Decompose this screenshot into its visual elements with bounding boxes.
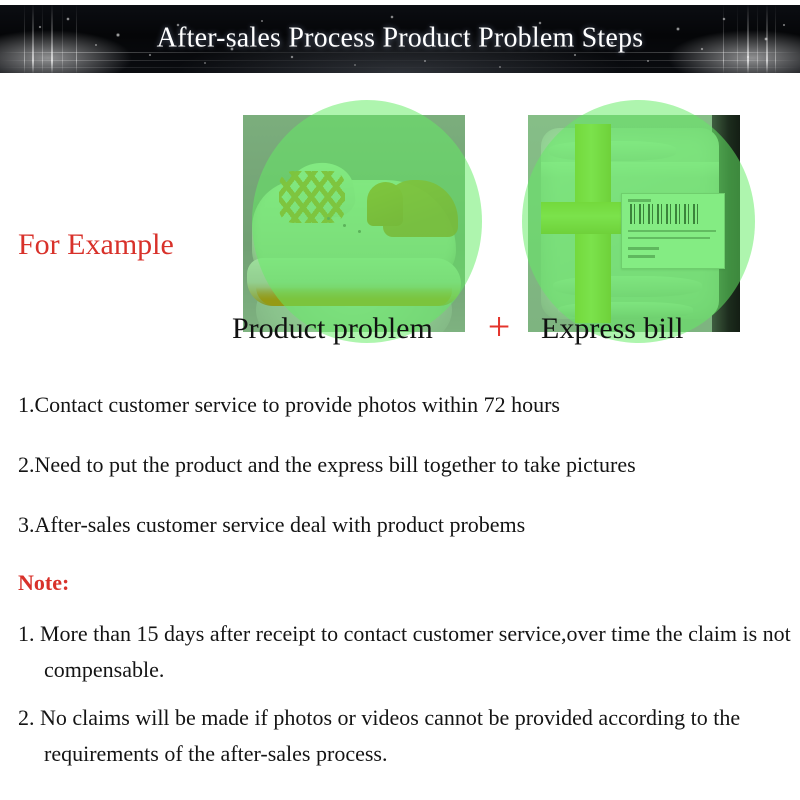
banner-horizontal-light-line [0,67,800,68]
page-title: After-sales Process Product Problem Step… [0,22,800,54]
note-heading: Note: [18,570,69,596]
note-item: 1. More than 15 days after receipt to co… [18,616,793,688]
note-list: 1. More than 15 days after receipt to co… [18,616,793,784]
green-photo-tint [528,115,740,332]
header-banner: After-sales Process Product Problem Step… [0,5,800,73]
steps-list: 1.Contact customer service to provide ph… [18,392,788,572]
green-photo-tint [243,115,465,332]
for-example-label: For Example [18,228,174,262]
step-item: 1.Contact customer service to provide ph… [18,392,788,418]
express-photo-frame [528,115,740,332]
example-section: For Example Product problem + [0,100,800,350]
express-bill-caption: Express bill [541,312,684,346]
product-photo-frame [243,115,465,332]
step-item: 3.After-sales customer service deal with… [18,512,788,538]
banner-horizontal-light-line [0,60,800,61]
note-item: 2. No claims will be made if photos or v… [18,700,793,772]
product-problem-caption: Product problem [232,312,433,346]
plus-icon: + [480,305,518,349]
express-bill-photo [528,115,740,332]
step-item: 2.Need to put the product and the expres… [18,452,788,478]
product-problem-photo [243,115,465,332]
